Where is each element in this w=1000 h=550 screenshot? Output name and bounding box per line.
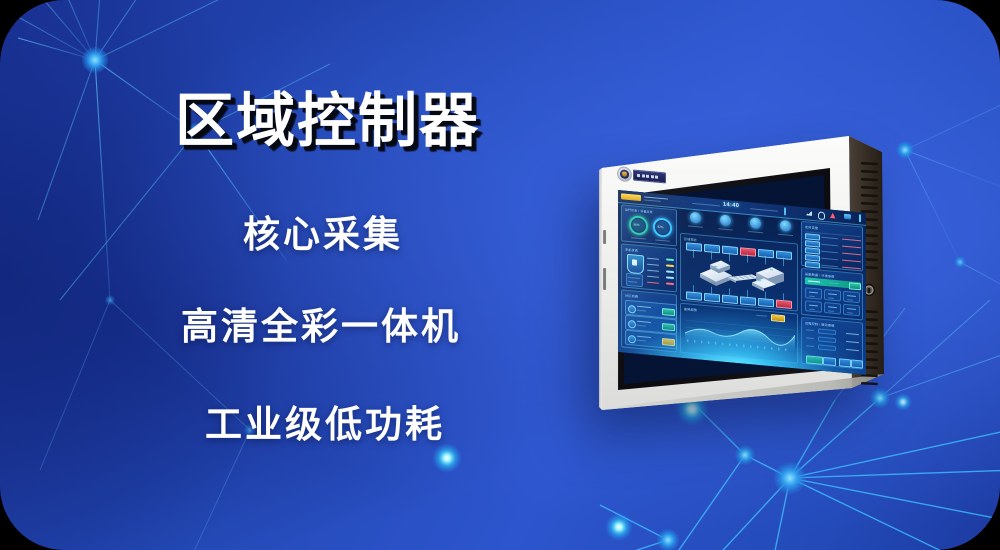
feature-line-3: 工业级低功耗	[205, 406, 445, 443]
industrial-panel-pc	[566, 118, 946, 428]
device-chassis	[566, 118, 946, 428]
marketing-copy: 区域控制器 核心采集 高清全彩一体机 工业级低功耗	[0, 0, 560, 550]
feature-line-1: 核心采集	[243, 216, 403, 253]
promo-banner: 区域控制器 核心采集 高清全彩一体机 工业级低功耗	[0, 0, 1000, 550]
keyhole-lock	[863, 284, 875, 296]
shield-emblem-icon	[617, 166, 632, 182]
feature-line-2: 高清全彩一体机	[181, 308, 461, 345]
page-title: 区域控制器	[175, 92, 480, 151]
